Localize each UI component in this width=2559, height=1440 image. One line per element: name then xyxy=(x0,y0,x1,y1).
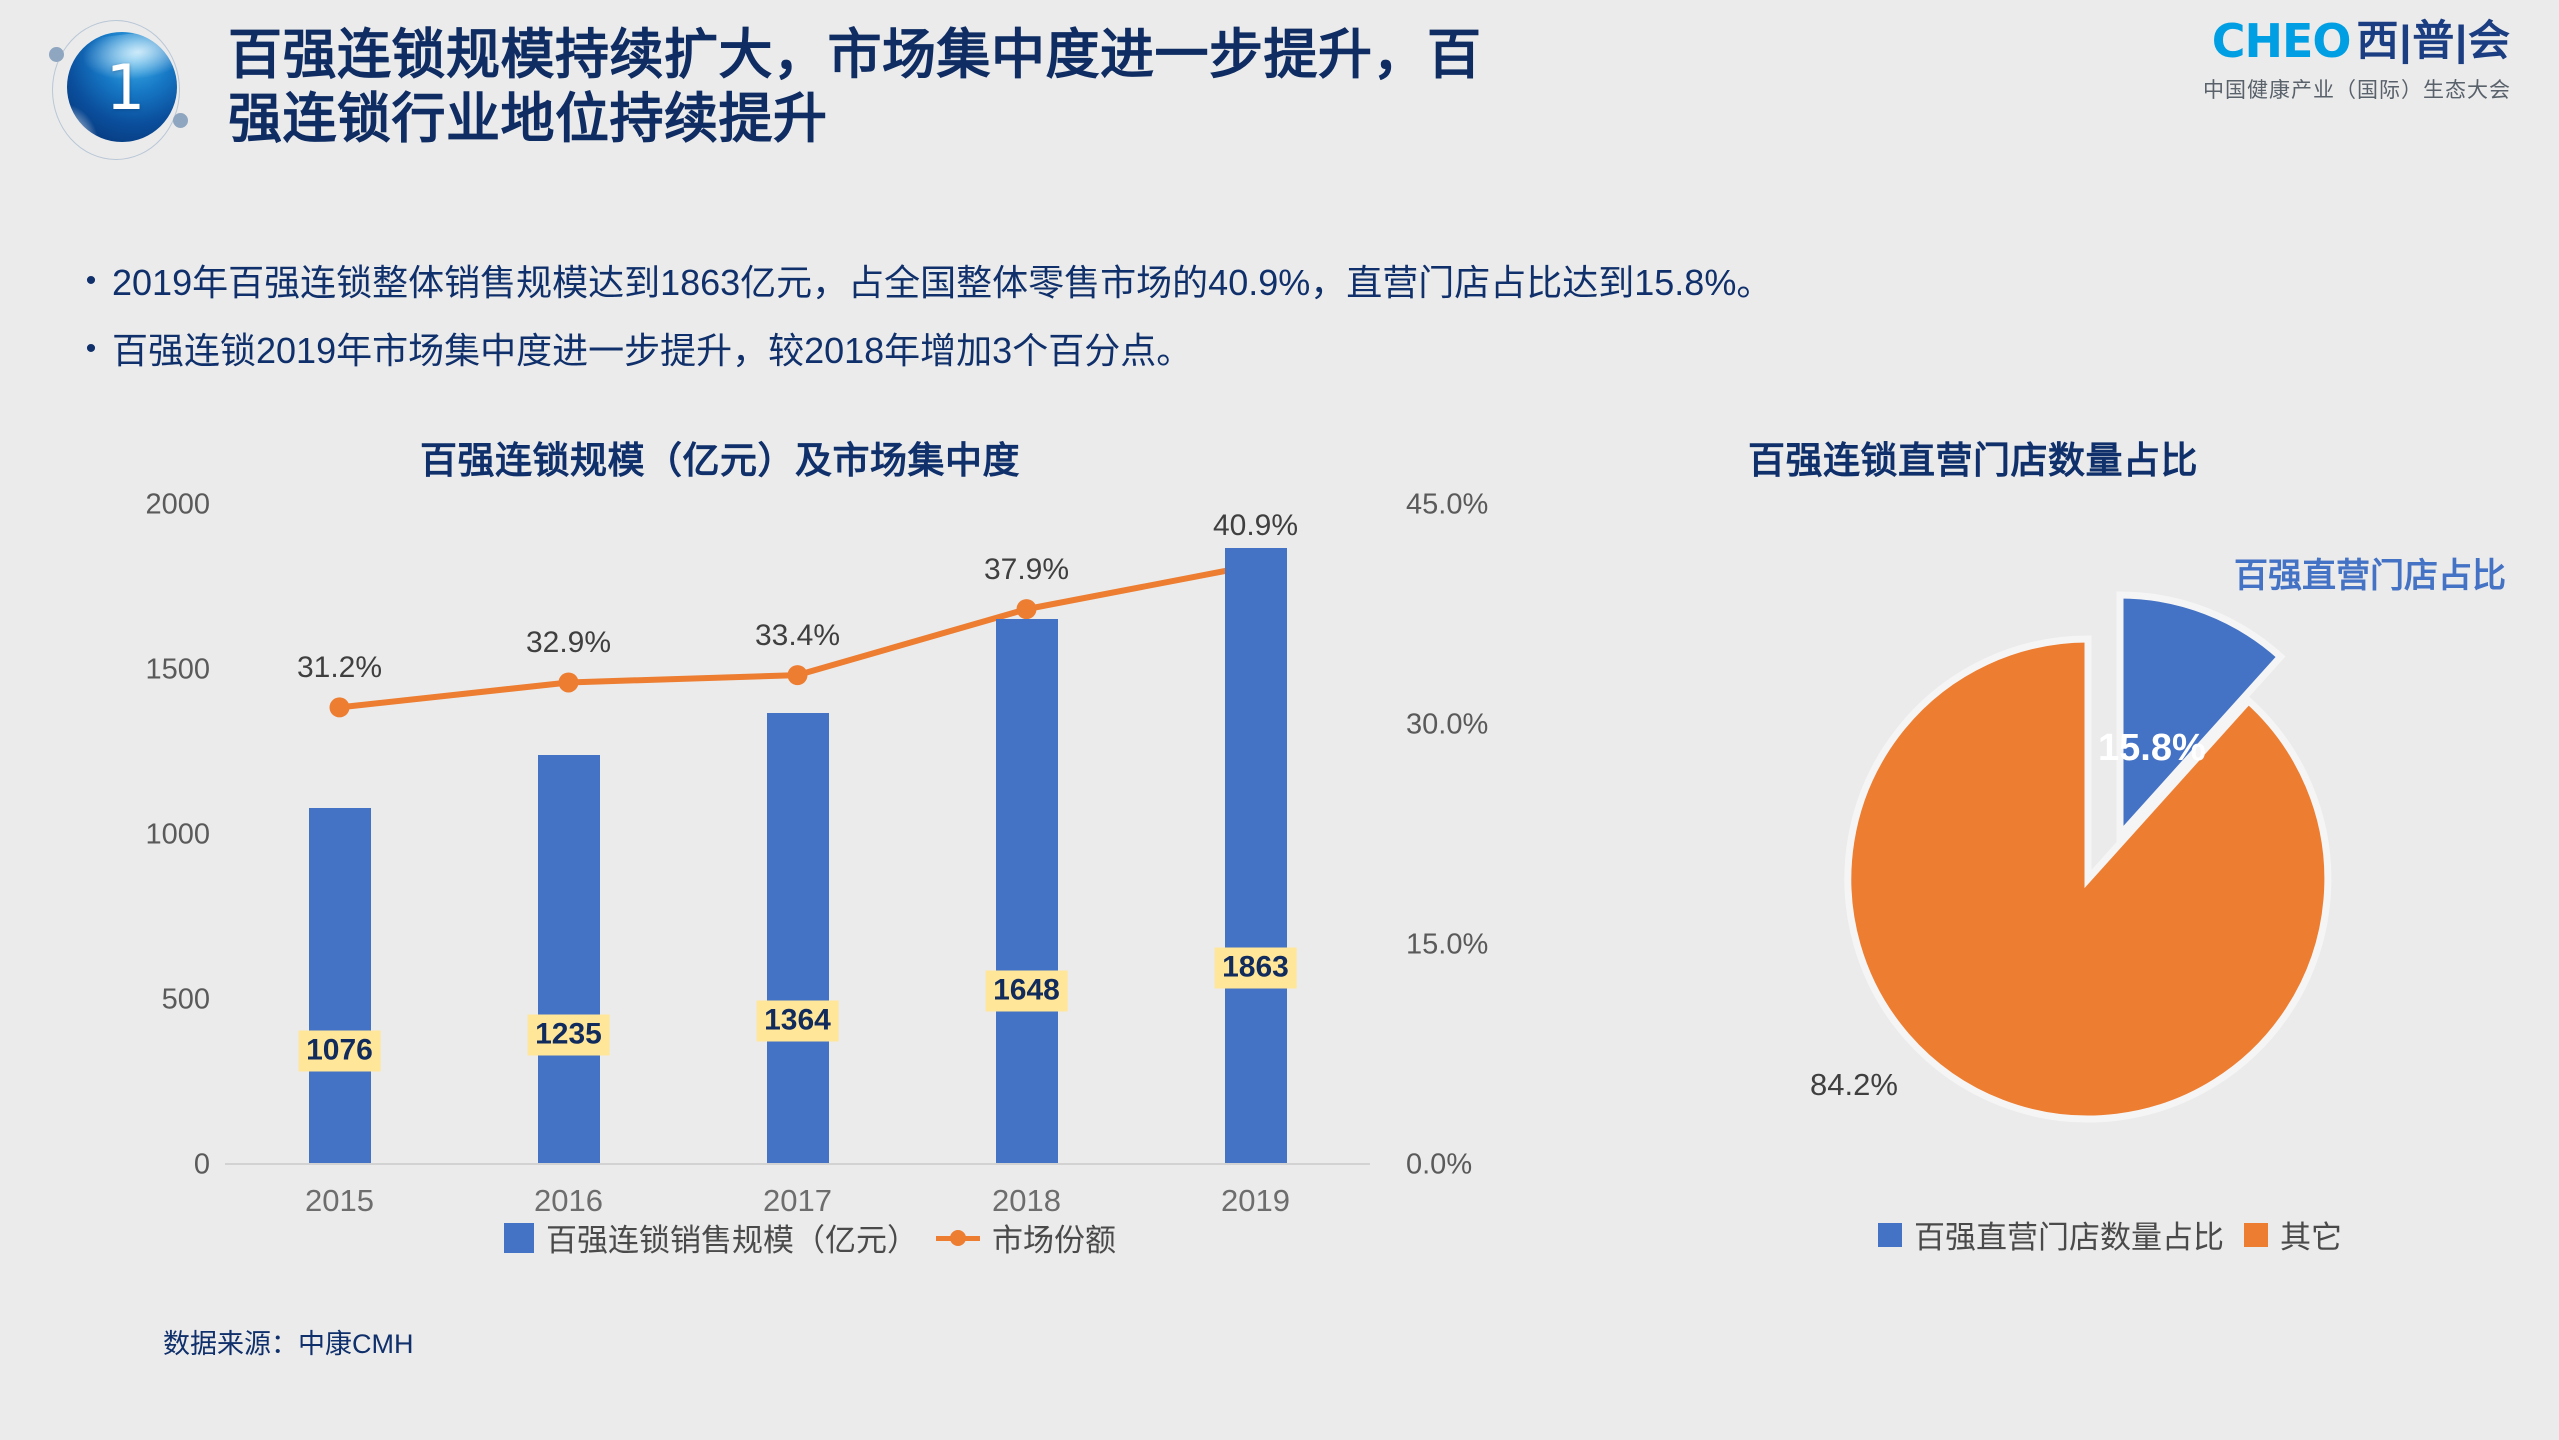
legend-label-line: 市场份额 xyxy=(992,1215,1116,1260)
market-share-value-label: 32.9% xyxy=(526,626,611,660)
combo-bar[interactable] xyxy=(996,619,1058,1163)
badge-sphere-icon: 1 xyxy=(67,32,177,142)
combo-y-right-tick: 15.0% xyxy=(1406,929,1488,962)
combo-y-axis-left: 0500100015002000 xyxy=(100,505,210,1165)
pie-value-label-orange: 84.2% xyxy=(1810,1067,1898,1103)
pie-slice-other[interactable] xyxy=(1848,639,2328,1119)
combo-plot-area: 1076201512352016136420171648201818632019… xyxy=(225,505,1370,1165)
market-share-point[interactable] xyxy=(330,697,350,717)
brand-logo-mark: CHEO 西|普|会 xyxy=(2091,18,2511,64)
combo-chart-legend: 百强连锁销售规模（亿元） 市场份额 xyxy=(100,1215,1520,1260)
combo-y-left-tick: 2000 xyxy=(145,489,210,522)
bullet-list: • 2019年百强连锁整体销售规模达到1863亿元，占全国整体零售市场的40.9… xyxy=(70,255,2520,391)
market-share-value-label: 33.4% xyxy=(755,619,840,653)
legend-label-bar: 百强连锁销售规模（亿元） xyxy=(546,1215,918,1260)
market-share-value-label: 40.9% xyxy=(1213,509,1298,543)
page-title: 百强连锁规模持续扩大，市场集中度进一步提升，百 强连锁行业地位持续提升 xyxy=(228,24,1968,151)
combo-bar[interactable] xyxy=(1225,548,1287,1163)
combo-x-tick: 2016 xyxy=(534,1183,603,1219)
slide-number-badge: 1 xyxy=(22,12,208,190)
combo-y-left-tick: 0 xyxy=(194,1149,210,1182)
legend-item-pie-orange: 其它 xyxy=(2244,1212,2342,1257)
market-share-point[interactable] xyxy=(559,672,579,692)
market-share-value-label: 37.9% xyxy=(984,553,1069,587)
pie-annotation: 百强直营门店占比 xyxy=(2220,555,2520,599)
pie-chart-legend: 百强直营门店数量占比 其它 xyxy=(1700,1212,2520,1257)
legend-swatch-pie-blue-icon xyxy=(1878,1223,1902,1247)
bullet-text: 百强连锁2019年市场集中度进一步提升，较2018年增加3个百分点。 xyxy=(112,323,2520,379)
combo-x-tick: 2019 xyxy=(1221,1183,1290,1219)
page-title-line-2: 强连锁行业地位持续提升 xyxy=(228,88,1968,152)
combo-y-axis-right: 0.0%15.0%30.0%45.0% xyxy=(1390,505,1520,1165)
legend-label-pie-orange: 其它 xyxy=(2280,1212,2342,1257)
combo-bar-value-label: 1364 xyxy=(756,1000,839,1041)
data-source-note: 数据来源：中康CMH xyxy=(163,1322,414,1361)
legend-swatch-line-icon xyxy=(936,1223,980,1253)
page-title-line-1: 百强连锁规模持续扩大，市场集中度进一步提升，百 xyxy=(228,25,1482,85)
market-share-point[interactable] xyxy=(1017,599,1037,619)
market-share-value-label: 31.2% xyxy=(297,651,382,685)
bullet-marker-icon: • xyxy=(70,255,112,306)
legend-item-pie-blue: 百强直营门店数量占比 xyxy=(1878,1212,2224,1257)
bullet-text: 2019年百强连锁整体销售规模达到1863亿元，占全国整体零售市场的40.9%，… xyxy=(112,255,2520,311)
legend-swatch-pie-orange-icon xyxy=(2244,1223,2268,1247)
combo-bar[interactable] xyxy=(309,808,371,1163)
combo-x-tick: 2015 xyxy=(305,1183,374,1219)
bullet-item: • 2019年百强连锁整体销售规模达到1863亿元，占全国整体零售市场的40.9… xyxy=(70,255,2520,311)
combo-y-left-tick: 1500 xyxy=(145,654,210,687)
combo-bar[interactable] xyxy=(538,755,600,1163)
legend-label-pie-blue: 百强直营门店数量占比 xyxy=(1914,1212,2224,1257)
combo-chart-title: 百强连锁规模（亿元）及市场集中度 xyxy=(420,430,1020,484)
brand-logo: CHEO 西|普|会 中国健康产业（国际）生态大会 xyxy=(2091,18,2511,104)
legend-item-bar: 百强连锁销售规模（亿元） xyxy=(504,1215,918,1260)
pie-chart: 百强直营门店占比 15.8% 84.2% xyxy=(1700,545,2520,1165)
combo-bar-value-label: 1235 xyxy=(527,1014,610,1055)
combo-y-left-tick: 500 xyxy=(162,984,210,1017)
legend-item-line: 市场份额 xyxy=(936,1215,1116,1260)
legend-swatch-bar-icon xyxy=(504,1223,534,1253)
bullet-marker-icon: • xyxy=(70,323,112,374)
combo-x-tick: 2017 xyxy=(763,1183,832,1219)
badge-number-text: 1 xyxy=(67,32,177,142)
combo-y-right-tick: 0.0% xyxy=(1406,1149,1472,1182)
brand-chinese-text: 西|普|会 xyxy=(2356,20,2511,62)
combo-bar-value-label: 1076 xyxy=(298,1031,381,1072)
combo-y-left-tick: 1000 xyxy=(145,819,210,852)
bullet-item: • 百强连锁2019年市场集中度进一步提升，较2018年增加3个百分点。 xyxy=(70,323,2520,379)
pie-value-label-blue: 15.8% xyxy=(2098,727,2206,770)
combo-x-tick: 2018 xyxy=(992,1183,1061,1219)
badge-orbit-dot-left xyxy=(49,47,64,62)
brand-latin-text: CHEO xyxy=(2212,18,2351,64)
market-share-point[interactable] xyxy=(788,665,808,685)
combo-y-right-tick: 30.0% xyxy=(1406,709,1488,742)
combo-bar[interactable] xyxy=(767,713,829,1163)
combo-chart: 0500100015002000 0.0%15.0%30.0%45.0% 107… xyxy=(100,505,1520,1165)
combo-bar-value-label: 1863 xyxy=(1214,948,1297,989)
combo-bar-value-label: 1648 xyxy=(985,970,1068,1011)
pie-chart-title: 百强连锁直营门店数量占比 xyxy=(1748,430,2198,484)
brand-subtitle: 中国健康产业（国际）生态大会 xyxy=(2091,74,2511,104)
combo-y-right-tick: 45.0% xyxy=(1406,489,1488,522)
